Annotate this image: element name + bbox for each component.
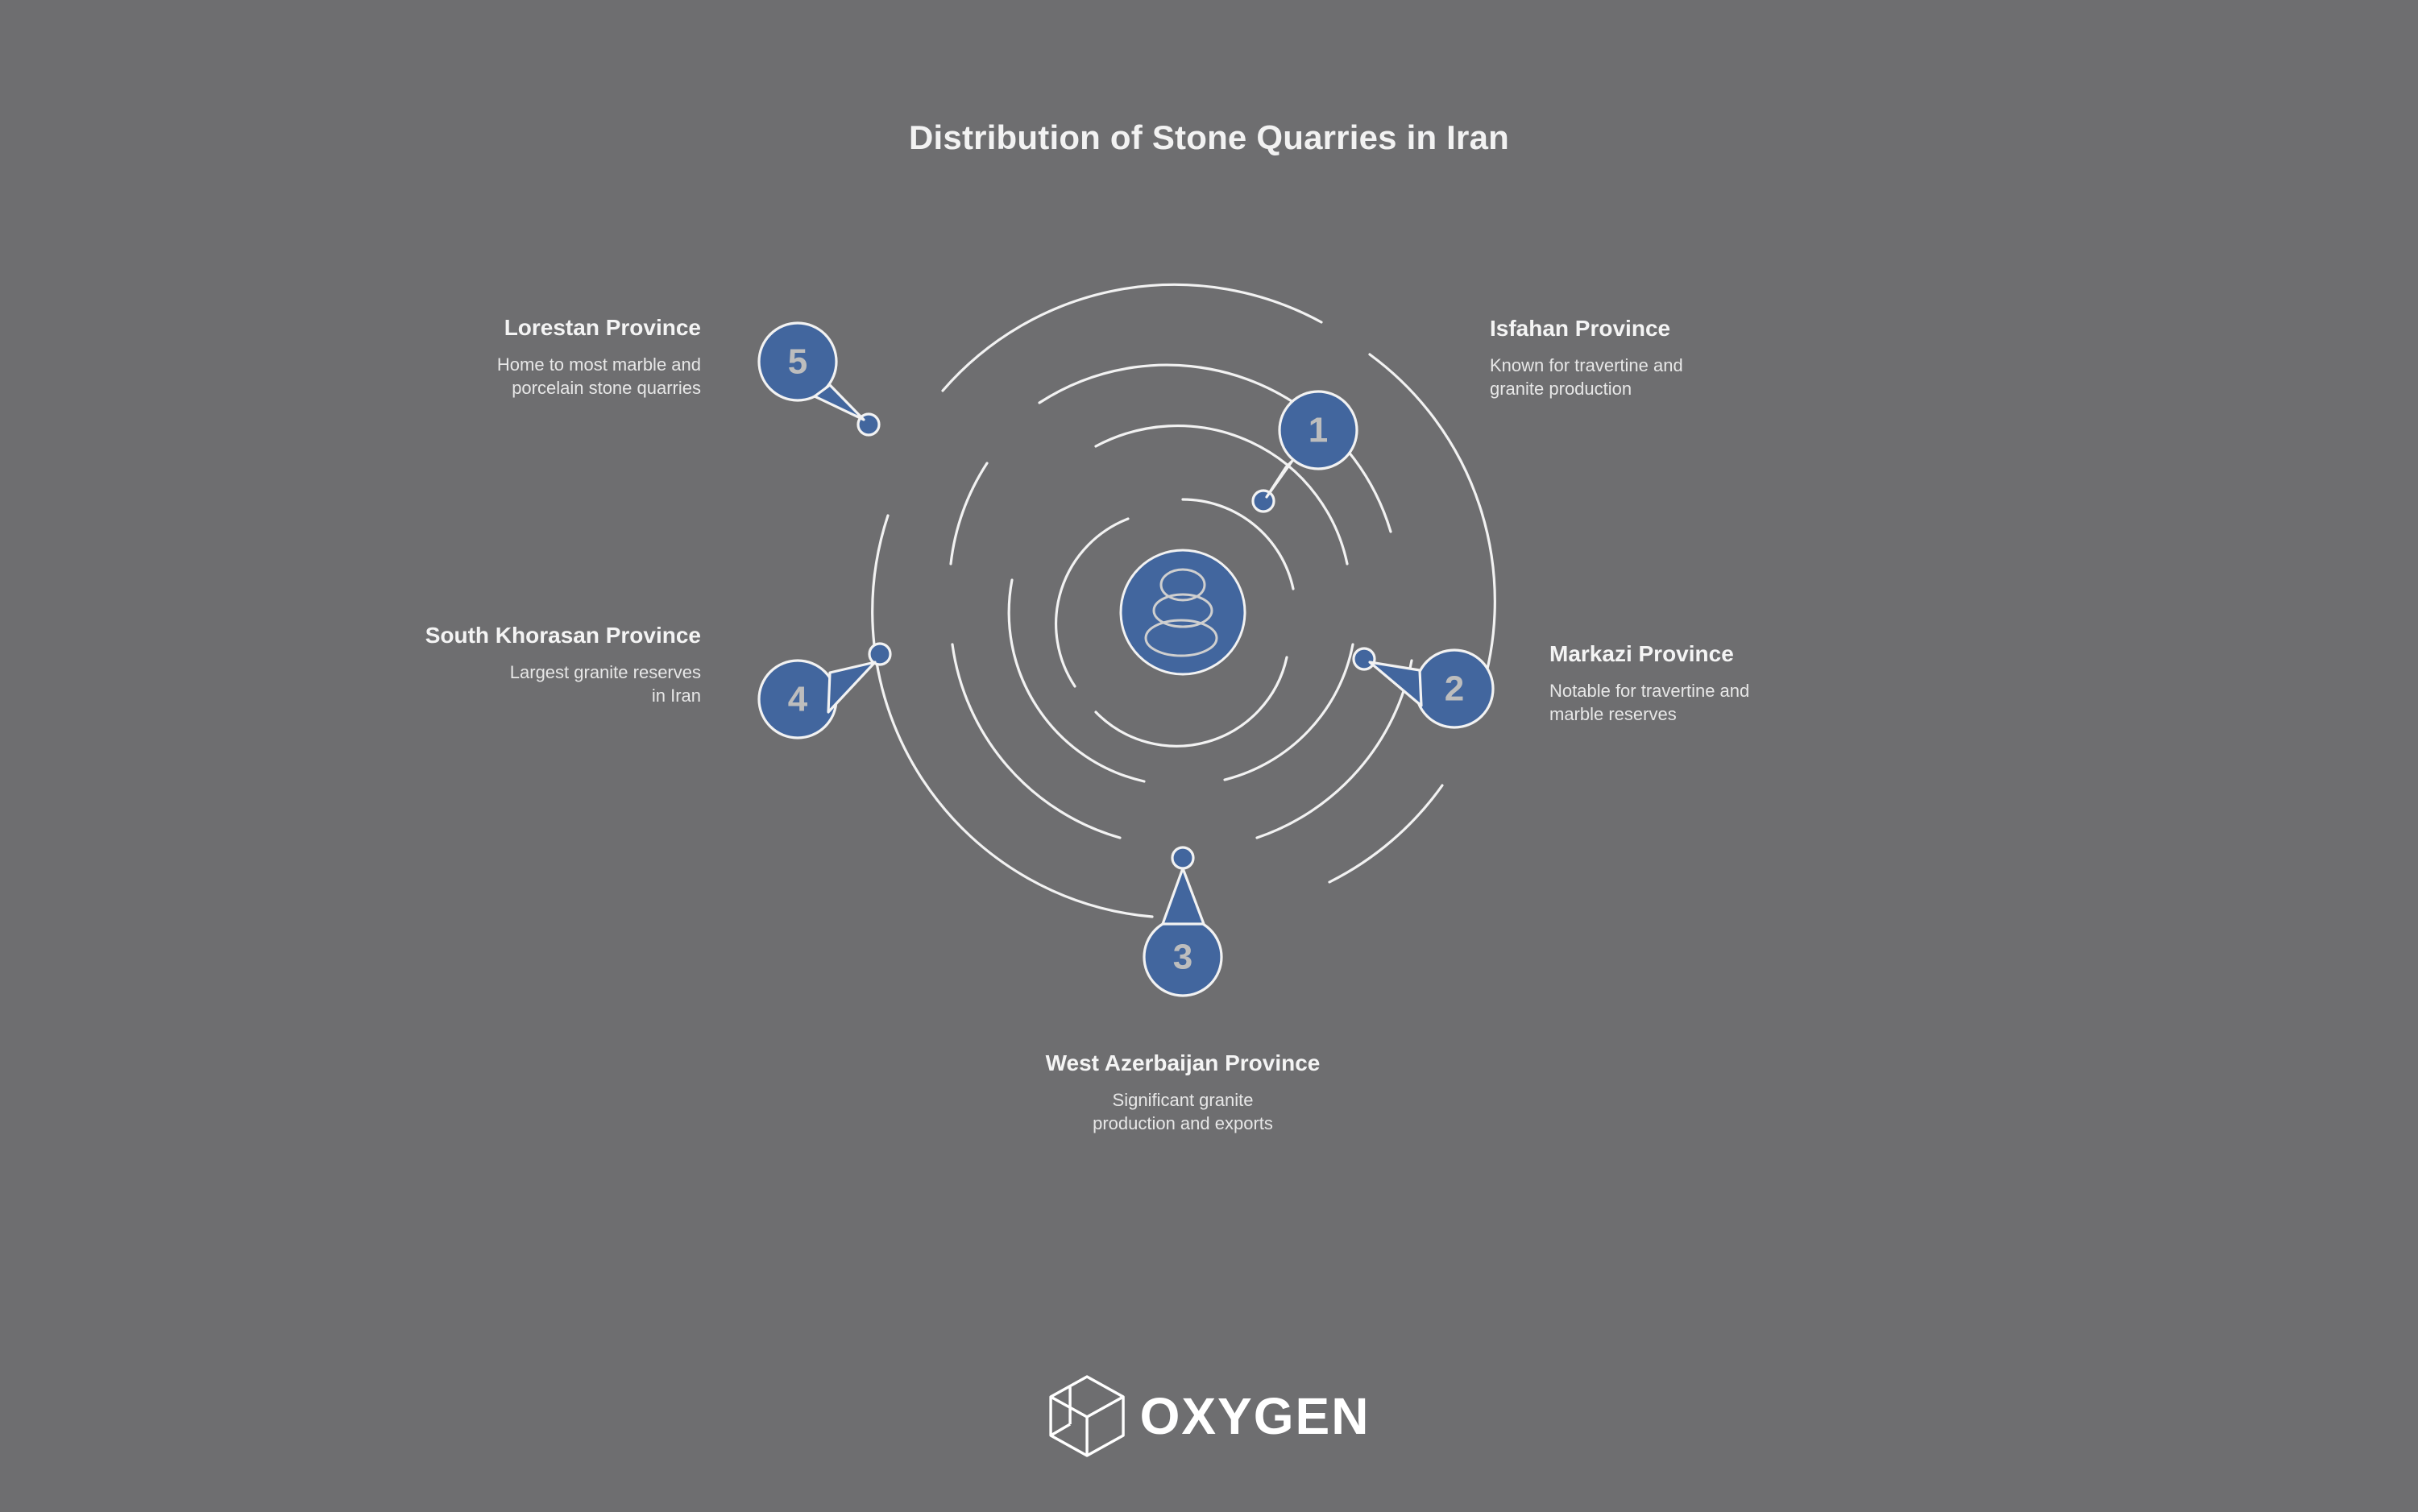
orbit-arc-1c: [1056, 519, 1128, 686]
marker-bubble-5-number: 5: [788, 342, 807, 382]
cube-icon: [1048, 1374, 1126, 1458]
node-text-markazi: Markazi Province Notable for travertine …: [1549, 640, 1952, 726]
marker-bubble-4[interactable]: 4: [759, 661, 875, 738]
orbit-arc-2b: [1225, 644, 1353, 780]
marker-bubble-1[interactable]: 1: [1267, 391, 1357, 497]
marker-bubble-2-tail: [1370, 662, 1421, 706]
orbit-arc-3b: [1257, 661, 1412, 838]
node-text-west-azerbaijan: West Azerbaijan Province Significant gra…: [989, 1050, 1376, 1135]
orbit-arc-4c: [1329, 785, 1442, 882]
orbit-dot-2: [1354, 648, 1375, 669]
orbit-diagram: 1 2 3 4 5: [0, 0, 2418, 1512]
node-heading-markazi: Markazi Province: [1549, 640, 1952, 668]
orbit-arc-4a: [943, 284, 1321, 391]
node-heading-south-khorasan: South Khorasan Province: [314, 622, 701, 649]
node-text-isfahan: Isfahan Province Known for travertine an…: [1490, 315, 1893, 400]
logo-wordmark: OXYGEN: [1140, 1390, 1371, 1442]
oxygen-logo: OXYGEN: [1048, 1374, 1371, 1458]
marker-bubble-2[interactable]: 2: [1370, 650, 1493, 727]
marker-bubble-5-tail: [815, 385, 864, 420]
node-description-isfahan: Known for travertine and granite product…: [1490, 354, 1893, 400]
marker-bubble-1-tail: [1267, 461, 1292, 497]
marker-bubble-1-number: 1: [1309, 411, 1328, 450]
marker-bubble-4-tail: [828, 662, 875, 712]
orbit-dot-3: [1172, 847, 1193, 868]
marker-bubble-3-number: 3: [1173, 938, 1192, 977]
node-text-south-khorasan: South Khorasan Province Largest granite …: [314, 622, 701, 707]
node-description-markazi: Notable for travertine and marble reserv…: [1549, 679, 1952, 726]
marker-bubble-3[interactable]: 3: [1144, 868, 1221, 996]
marker-bubble-5[interactable]: 5: [759, 323, 864, 420]
node-heading-lorestan: Lorestan Province: [314, 314, 701, 342]
center-hub: [1121, 550, 1245, 674]
node-description-west-azerbaijan: Significant granite production and expor…: [989, 1088, 1376, 1135]
node-heading-west-azerbaijan: West Azerbaijan Province: [989, 1050, 1376, 1077]
node-description-lorestan: Home to most marble and porcelain stone …: [314, 353, 701, 400]
orbit-dots: [858, 414, 1375, 868]
node-text-lorestan: Lorestan Province Home to most marble an…: [314, 314, 701, 400]
node-description-south-khorasan: Largest granite reserves in Iran: [314, 661, 701, 707]
orbit-dot-1: [1253, 491, 1274, 512]
orbit-arc-3d: [951, 463, 987, 564]
node-heading-isfahan: Isfahan Province: [1490, 315, 1893, 342]
orbit-arc-4d: [873, 516, 1152, 917]
marker-bubble-4-number: 4: [788, 680, 808, 719]
marker-bubble-2-number: 2: [1445, 669, 1464, 709]
infographic-canvas: Distribution of Stone Quarries in Iran: [0, 0, 2418, 1512]
orbit-arc-3c: [952, 644, 1120, 838]
marker-bubble-3-tail: [1163, 868, 1204, 924]
